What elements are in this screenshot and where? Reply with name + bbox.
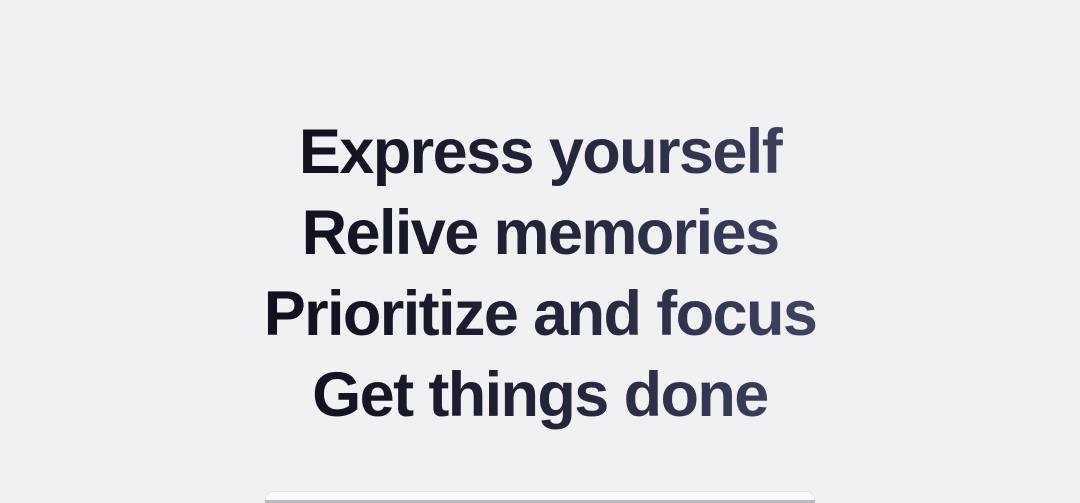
presentation-slide: Express yourself Relive memories Priorit… [0, 0, 1080, 503]
headline-line-3: Prioritize and focus [0, 274, 1080, 355]
headline-line-4: Get things done [0, 355, 1080, 436]
headline-line-1: Express yourself [0, 112, 1080, 193]
headline-line-2: Relive memories [0, 193, 1080, 274]
headline-block: Express yourself Relive memories Priorit… [0, 112, 1080, 436]
